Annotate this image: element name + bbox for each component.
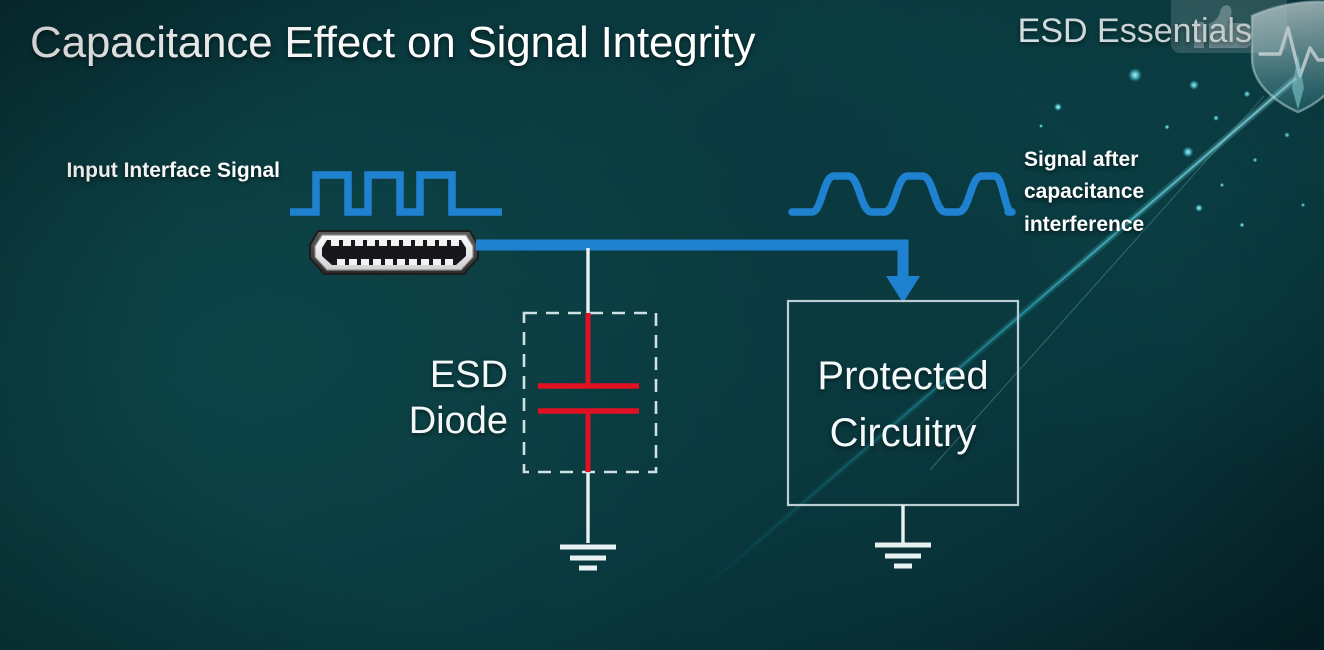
page-title: Capacitance Effect on Signal Integrity <box>30 18 755 68</box>
output-signal-label-line2: capacitance <box>1024 176 1274 208</box>
input-signal-label-line2: Signal <box>217 159 280 182</box>
output-signal-label-line1: Signal after <box>1024 144 1274 176</box>
output-signal-label: Signal after capacitance interference <box>1024 144 1274 241</box>
brand-label: ESD Essentials <box>1018 12 1252 51</box>
rounded-square-wave-icon <box>792 176 1012 212</box>
input-signal-label-line1: Input Interface <box>66 159 211 182</box>
esd-diode-label-line1: ESD <box>330 352 508 398</box>
esd-diode-label-line2: Diode <box>330 398 508 444</box>
protected-circuitry-label: Protected Circuitry <box>788 348 1018 462</box>
input-signal-label: Input Interface Signal <box>60 156 280 186</box>
esd-diode-label: ESD Diode <box>330 352 508 445</box>
protected-circuitry-label-line2: Circuitry <box>788 405 1018 462</box>
square-wave-icon <box>290 175 502 212</box>
slide-canvas: Capacitance Effect on Signal Integrity E… <box>0 0 1324 650</box>
down-arrow-icon <box>886 276 920 303</box>
protected-circuitry-label-line1: Protected <box>788 348 1018 405</box>
capacitor-symbol-icon <box>538 313 639 472</box>
ground-symbol-icon <box>875 505 931 566</box>
output-signal-label-line3: interference <box>1024 209 1274 241</box>
ground-symbol-icon <box>560 547 616 568</box>
signal-trace <box>476 245 920 303</box>
circuit-diagram <box>0 0 1324 650</box>
hdmi-connector-icon <box>310 231 478 274</box>
